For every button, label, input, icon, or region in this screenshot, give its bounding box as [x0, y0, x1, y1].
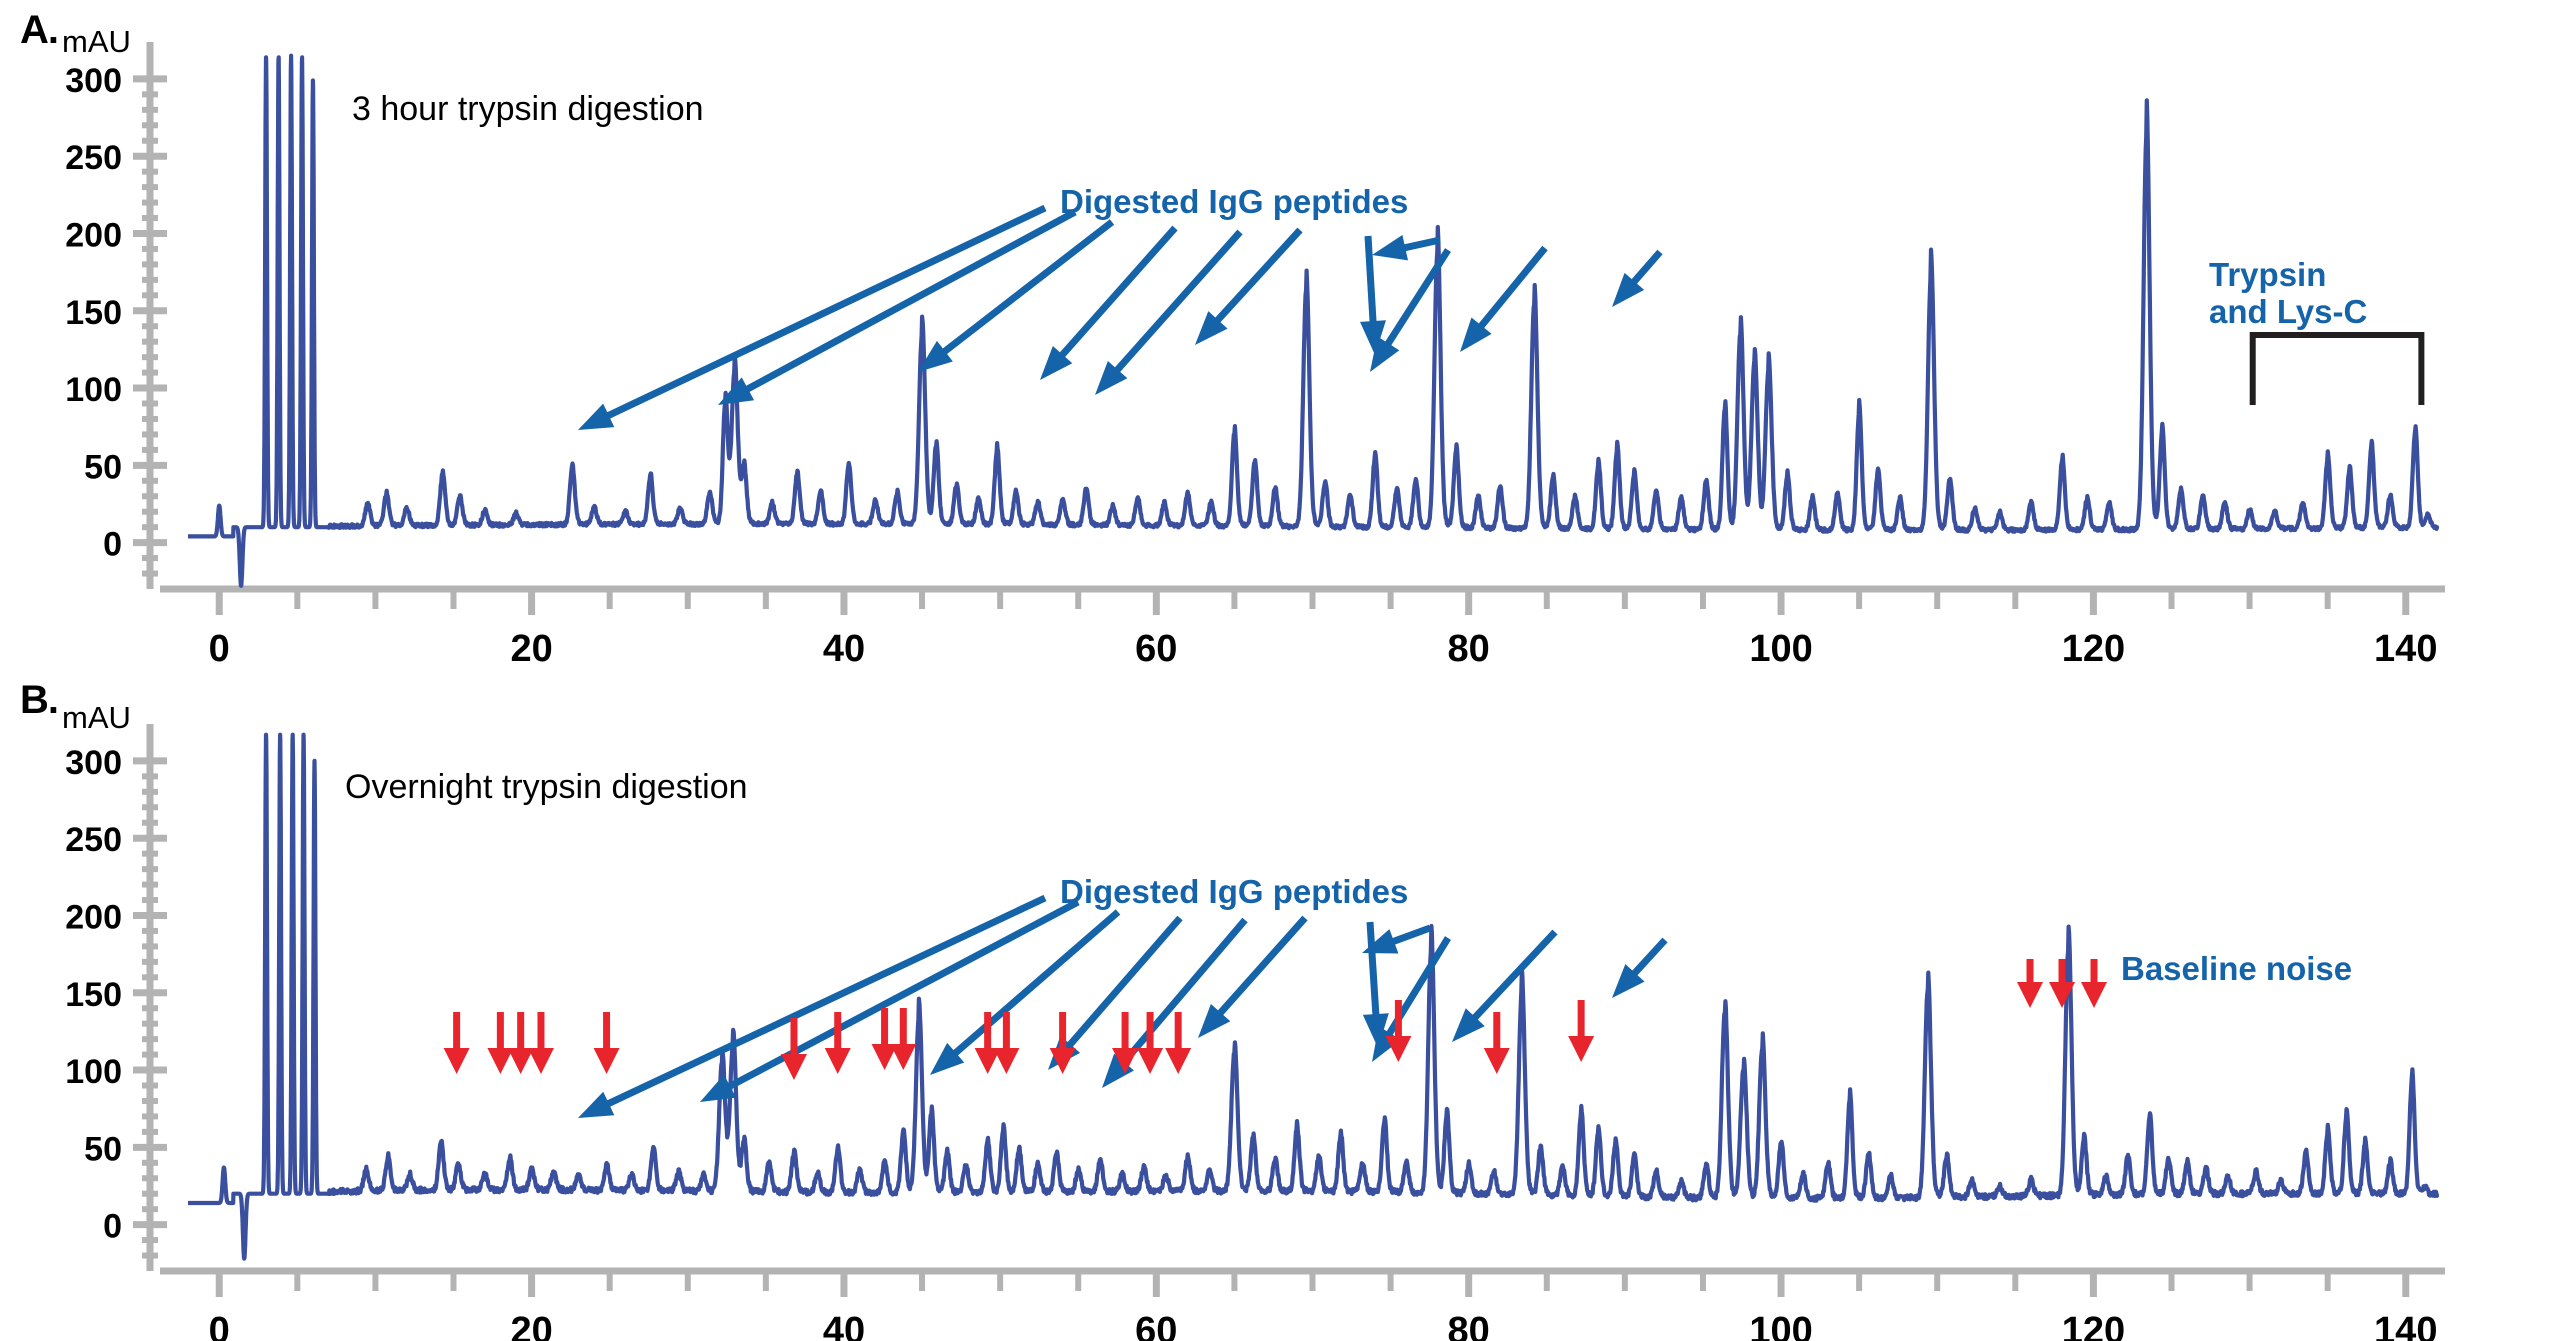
y-tick-label: 50	[84, 448, 122, 486]
chromatogram-trace	[329, 100, 2437, 531]
noise-label-arrow-1-head	[2017, 982, 2043, 1008]
x-tick-label: 80	[1448, 628, 1490, 670]
baseline-noise-arrow-14-head	[1137, 1048, 1163, 1074]
peptide-arrow-7	[1368, 236, 1374, 330]
y-tick-label: 150	[65, 976, 122, 1014]
x-tick-label: 0	[209, 1310, 230, 1341]
peptide-arrow-8-head	[1372, 235, 1408, 260]
baseline-noise-arrow-16-head	[1385, 1036, 1411, 1062]
y-tick-label: 100	[65, 371, 122, 409]
x-tick-label: 140	[2374, 628, 2437, 670]
y-tick-label: 100	[65, 1053, 122, 1091]
y-tick-label: 150	[65, 294, 122, 332]
peptide-arrow-1	[601, 898, 1045, 1107]
peptide-arrow-5	[1112, 232, 1240, 376]
solvent-front-peaks	[188, 56, 335, 586]
baseline-noise-arrow-6-head	[781, 1054, 807, 1080]
panel-b: B. mAU Overnight trypsin digestion Diges…	[0, 670, 2561, 1341]
baseline-noise-arrow-5-head	[594, 1048, 620, 1074]
x-tick-label: 120	[2062, 1310, 2125, 1341]
baseline-noise-arrow-11-head	[993, 1048, 1019, 1074]
peptide-arrow-1-head	[578, 404, 614, 430]
baseline-noise-arrow-3-head	[508, 1048, 534, 1074]
baseline-noise-arrow-2-head	[487, 1048, 513, 1074]
panel-a-chromatogram: 050100150200250300020406080100120140	[0, 0, 2561, 670]
baseline-noise-arrow-18-head	[1568, 1036, 1594, 1062]
y-tick-label: 200	[65, 898, 122, 936]
x-tick-label: 0	[209, 628, 230, 670]
peptide-arrow-2	[740, 212, 1075, 393]
x-tick-label: 20	[510, 628, 552, 670]
chromatogram-trace	[329, 926, 2437, 1201]
peptide-arrow-1-head	[578, 1092, 614, 1118]
baseline-noise-arrow-17-head	[1484, 1048, 1510, 1074]
x-tick-label: 100	[1749, 628, 1812, 670]
y-tick-label: 50	[84, 1130, 122, 1168]
x-tick-label: 80	[1448, 1310, 1490, 1341]
peptide-arrow-6	[1215, 918, 1305, 1019]
peptide-arrow-7	[1370, 922, 1376, 1023]
noise-label-arrow-3-head	[2081, 982, 2107, 1008]
solvent-front-peaks	[188, 735, 335, 1259]
baseline-noise-arrow-7-head	[825, 1048, 851, 1074]
baseline-noise-arrow-9-head	[890, 1044, 916, 1070]
x-tick-label: 60	[1135, 1310, 1177, 1341]
peptide-arrow-10	[1469, 932, 1555, 1024]
baseline-noise-arrow-4-head	[528, 1048, 554, 1074]
y-tick-label: 250	[65, 139, 122, 177]
peptide-arrow-1	[601, 208, 1045, 419]
trypsin-lysc-bracket	[2253, 335, 2422, 405]
baseline-noise-arrow-15-head	[1165, 1048, 1191, 1074]
y-tick-label: 0	[103, 526, 122, 564]
y-tick-label: 0	[103, 1208, 122, 1246]
x-tick-label: 140	[2374, 1310, 2437, 1341]
y-tick-label: 300	[65, 62, 122, 100]
x-tick-label: 20	[510, 1310, 552, 1341]
x-tick-label: 60	[1135, 628, 1177, 670]
y-tick-label: 200	[65, 216, 122, 254]
x-tick-label: 120	[2062, 628, 2125, 670]
y-tick-label: 250	[65, 821, 122, 859]
x-tick-label: 40	[823, 1310, 865, 1341]
x-tick-label: 40	[823, 628, 865, 670]
panel-a: A. mAU 3 hour trypsin digestion Digested…	[0, 0, 2561, 670]
y-tick-label: 300	[65, 744, 122, 782]
x-tick-label: 100	[1749, 1310, 1812, 1341]
panel-b-chromatogram: 050100150200250300020406080100120140	[0, 670, 2561, 1341]
baseline-noise-arrow-1-head	[444, 1048, 470, 1074]
